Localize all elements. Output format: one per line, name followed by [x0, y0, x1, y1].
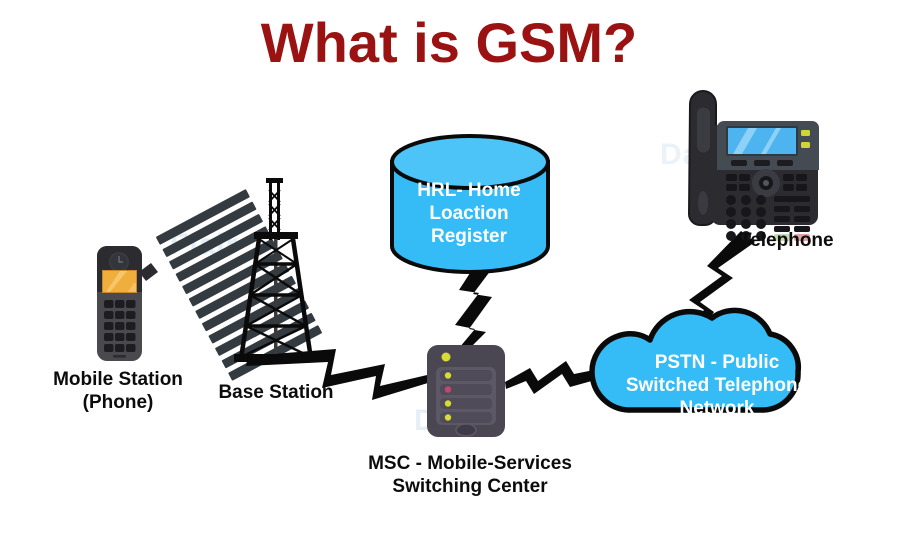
database-cylinder-icon[interactable]	[392, 136, 548, 272]
msc-caption: MSC - Mobile-Services Switching Center	[330, 452, 610, 498]
cloud-icon[interactable]	[592, 310, 798, 410]
telephone-caption: Telephone	[740, 229, 898, 252]
cell-tower-icon[interactable]	[234, 178, 318, 362]
server-icon[interactable]	[427, 345, 505, 437]
mobile-phone-icon[interactable]	[97, 246, 158, 361]
diagram-canvas: What is GSM? Flair Data Data	[0, 0, 898, 533]
desk-telephone-icon[interactable]	[689, 91, 819, 241]
mobile-station-caption: Mobile Station (Phone)	[18, 368, 218, 414]
base-station-caption: Base Station	[196, 381, 356, 404]
